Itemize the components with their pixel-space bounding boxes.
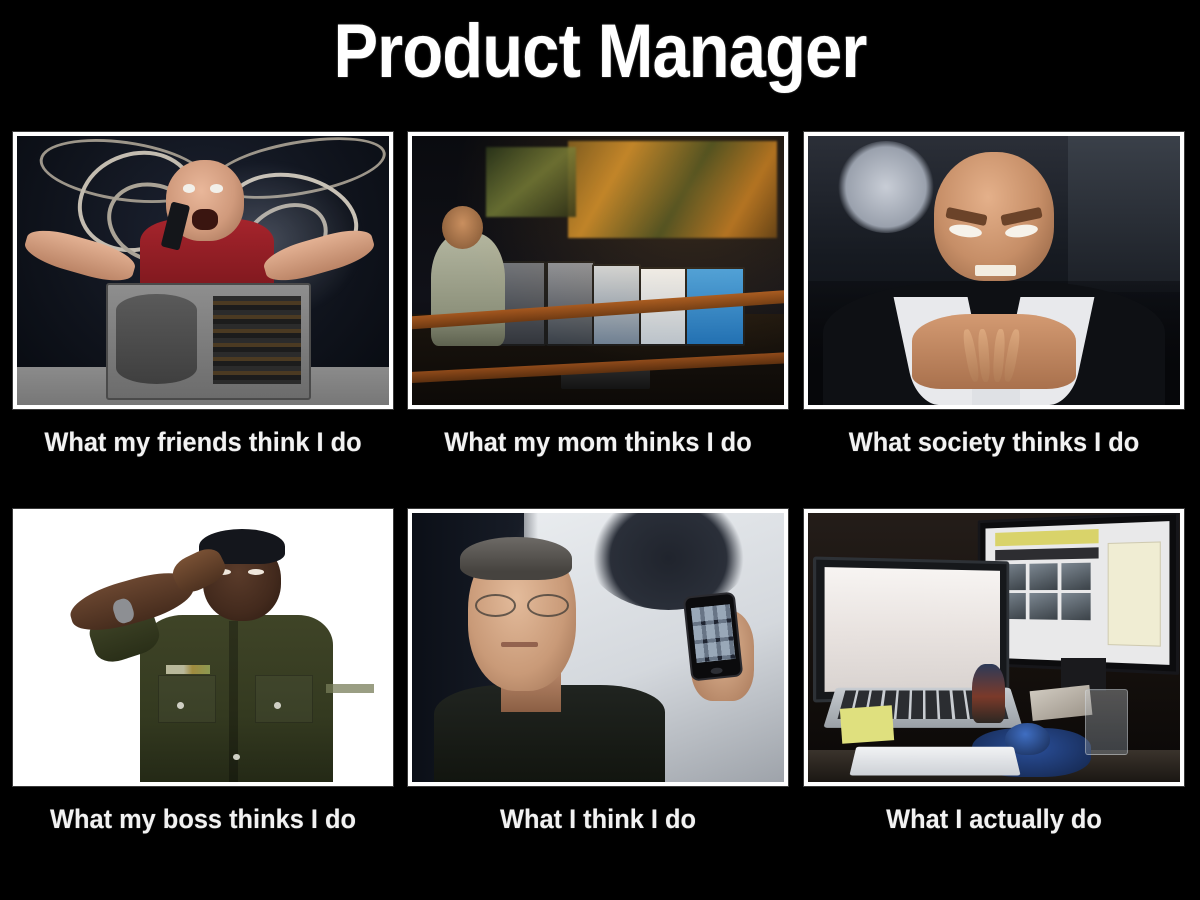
eyeglass-lens — [475, 594, 516, 617]
panel-frame — [13, 132, 393, 409]
page-nav-bar — [996, 547, 1099, 560]
chest-pocket — [255, 675, 313, 723]
sticky-note — [840, 705, 894, 744]
name-tag — [326, 684, 374, 693]
external-keyboard — [849, 747, 1020, 776]
thumbnail — [1030, 563, 1058, 590]
panel-actual: What I actually do — [804, 509, 1184, 835]
panel-grid: What my friends think I do — [0, 132, 1200, 872]
meme-image: Product Manager — [0, 0, 1200, 900]
eye — [210, 184, 223, 193]
drive-bay — [116, 294, 196, 384]
panel-society: What society thinks I do — [804, 132, 1184, 458]
warm-lighting-overlay — [412, 136, 784, 405]
panel-frame — [408, 509, 788, 786]
shouting-mouth — [192, 209, 218, 231]
iphone-home-screen — [691, 604, 735, 663]
paper-stack — [1030, 685, 1092, 721]
gritted-teeth — [975, 265, 1016, 276]
panel-frame — [804, 509, 1184, 786]
photo-mom-control-room — [412, 136, 784, 405]
panel-caption: What my friends think I do — [24, 427, 381, 458]
background-wall — [1068, 136, 1180, 292]
thumbnail — [1030, 593, 1058, 620]
panel-boss: What my boss thinks I do — [13, 509, 393, 835]
panel-self: What I think I do — [408, 509, 788, 835]
panel-caption: What my boss thinks I do — [24, 804, 381, 835]
panel-caption: What society thinks I do — [815, 427, 1172, 458]
panel-caption: What my mom thinks I do — [419, 427, 776, 458]
thumbnail — [1062, 562, 1091, 590]
panel-frame — [13, 509, 393, 786]
panel-frame — [804, 132, 1184, 409]
computer-tower — [106, 283, 311, 400]
page-header-banner — [996, 529, 1099, 546]
photo-boss-saluting-soldier — [17, 513, 389, 782]
drinking-glass — [1085, 689, 1128, 756]
panel-frame — [408, 132, 788, 409]
eye — [183, 184, 196, 193]
moon-glow — [838, 141, 935, 232]
photo-actual-cluttered-desk — [808, 513, 1180, 782]
panel-friends: What my friends think I do — [13, 132, 393, 458]
steepled-hands — [912, 314, 1076, 389]
hair — [460, 537, 572, 580]
photo-friends-tangled-cables — [17, 136, 389, 405]
mouth — [501, 642, 538, 647]
photo-society-villain — [808, 136, 1180, 405]
panel-mom: What my mom thinks I do — [408, 132, 788, 458]
exposed-internals — [213, 296, 301, 384]
eyeglass-lens — [527, 594, 568, 617]
chest-pocket — [158, 675, 216, 723]
meme-title: Product Manager — [72, 14, 1128, 90]
home-button — [711, 667, 723, 675]
photo-self-steve-jobs — [412, 513, 784, 782]
thumbnail — [1062, 593, 1091, 621]
rank-patch — [166, 665, 211, 674]
sidebar-panel — [1108, 541, 1161, 646]
panel-caption: What I think I do — [419, 804, 776, 835]
panel-caption: What I actually do — [815, 804, 1172, 835]
finger — [977, 328, 990, 381]
desk-figurine — [972, 664, 1005, 723]
finger — [1003, 328, 1022, 382]
browser-page — [986, 521, 1170, 665]
iphone-device — [683, 591, 744, 681]
